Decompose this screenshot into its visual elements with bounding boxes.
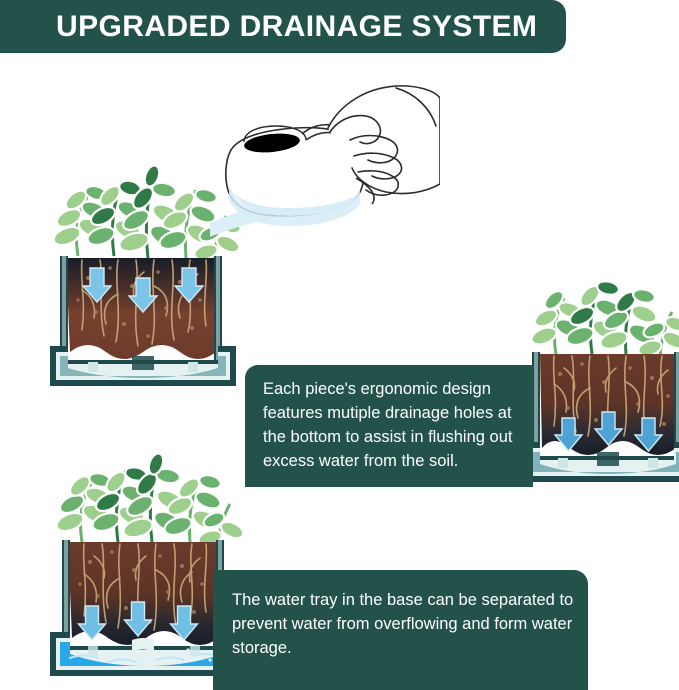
soil-cross-section	[68, 542, 218, 645]
plant-foliage-icon	[54, 451, 246, 548]
planter-right-illustration	[518, 268, 679, 498]
watering-can-illustration	[210, 80, 440, 280]
callout-drainage-holes-text: Each piece's ergonomic design features m…	[263, 378, 519, 474]
hand-with-watering-can	[210, 80, 440, 285]
infographic-canvas: UPGRADED DRAINAGE SYSTEM	[0, 0, 679, 690]
water-flow-arrow-up	[79, 602, 198, 640]
callout-drainage-holes: Each piece's ergonomic design features m…	[245, 365, 533, 487]
callout-water-tray: The water tray in the base can be separa…	[213, 570, 588, 690]
header-banner: UPGRADED DRAINAGE SYSTEM	[0, 0, 566, 53]
soil-cross-section	[540, 354, 676, 455]
water-flow-arrow-down	[555, 412, 662, 451]
soil-cross-section	[66, 258, 216, 359]
callout-water-tray-text: The water tray in the base can be separa…	[232, 589, 574, 661]
plant-foliage-icon	[529, 279, 679, 358]
page-title: UPGRADED DRAINAGE SYSTEM	[0, 10, 537, 44]
planter-right	[518, 268, 679, 498]
